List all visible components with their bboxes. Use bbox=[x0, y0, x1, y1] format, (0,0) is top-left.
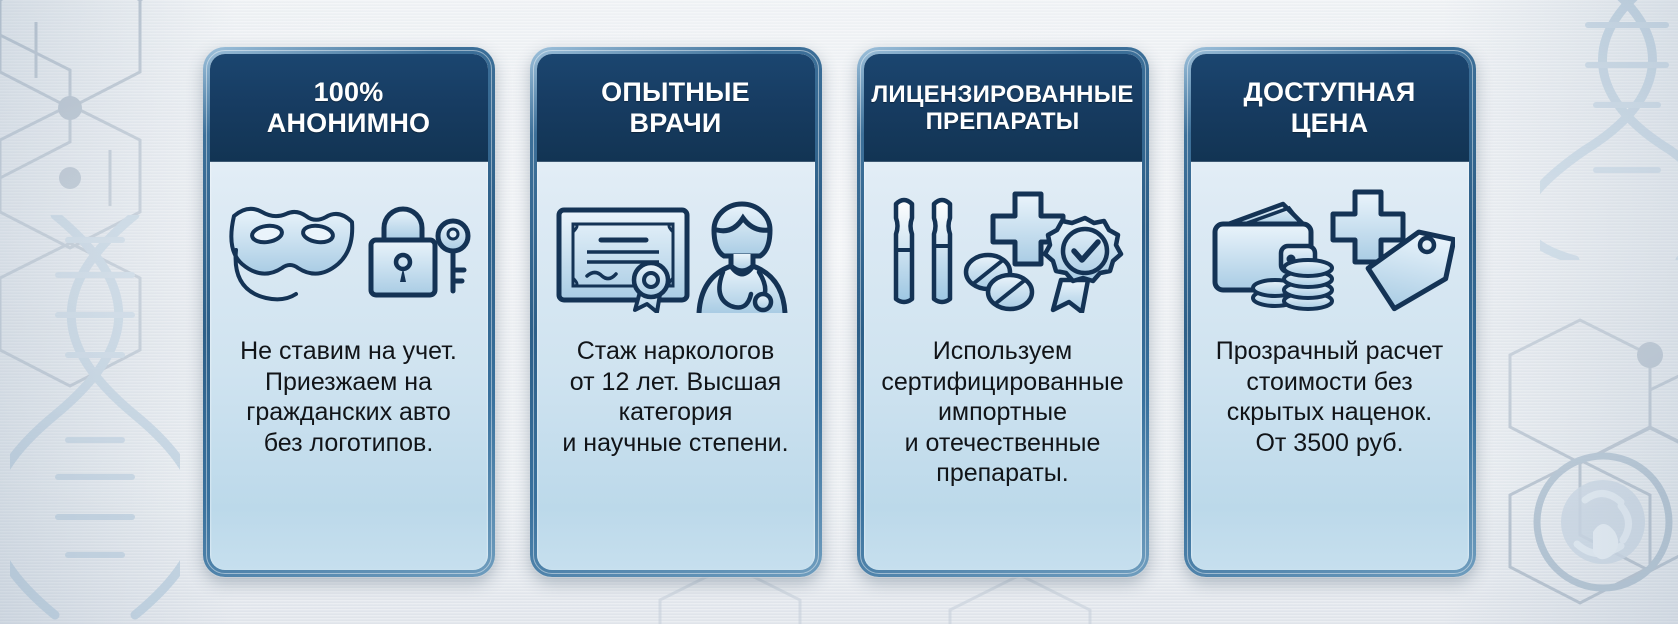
card-description: Используем сертифицированные импортные и… bbox=[881, 336, 1123, 489]
card-header-licensed-drugs: ЛИЦЕНЗИРОВАННЫЕ ПРЕПАРАТЫ bbox=[864, 54, 1142, 162]
card-header-experienced-doctors: ОПЫТНЫЕ ВРАЧИ bbox=[537, 54, 815, 162]
card-text-affordable-price: Прозрачный расчет стоимости без скрытых … bbox=[1191, 332, 1469, 570]
card-description: Не ставим на учет. Приезжаем на гражданс… bbox=[240, 336, 457, 458]
card-icons-experienced-doctors bbox=[537, 162, 815, 332]
card-text-experienced-doctors: Стаж наркологов от 12 лет. Высшая катего… bbox=[537, 332, 815, 570]
card-title: ОПЫТНЫЕ ВРАЧИ bbox=[601, 77, 750, 139]
feature-card-experienced-doctors[interactable]: ОПЫТНЫЕ ВРАЧИ bbox=[530, 47, 822, 577]
key-icon bbox=[438, 221, 468, 291]
card-text-licensed-drugs: Используем сертифицированные импортные и… bbox=[864, 332, 1142, 570]
card-header-anonymity: 100% АНОНИМНО bbox=[210, 54, 488, 162]
card-title: ДОСТУПНАЯ ЦЕНА bbox=[1244, 77, 1416, 139]
card-description: Стаж наркологов от 12 лет. Высшая катего… bbox=[562, 336, 788, 458]
card-icons-affordable-price bbox=[1191, 162, 1469, 332]
feature-cards-row: 100% АНОНИМНО bbox=[0, 0, 1678, 624]
carnival-mask-icon bbox=[231, 208, 352, 299]
certificate-icon bbox=[559, 210, 687, 312]
card-icons-anonymity bbox=[210, 162, 488, 332]
card-title: ЛИЦЕНЗИРОВАННЫЕ ПРЕПАРАТЫ bbox=[871, 81, 1133, 136]
feature-card-licensed-drugs[interactable]: ЛИЦЕНЗИРОВАННЫЕ ПРЕПАРАТЫ bbox=[857, 47, 1149, 577]
ampoule-icon bbox=[934, 200, 950, 302]
card-description: Прозрачный расчет стоимости без скрытых … bbox=[1216, 336, 1444, 458]
feature-card-anonymity[interactable]: 100% АНОНИМНО bbox=[203, 47, 495, 577]
card-icons-licensed-drugs bbox=[864, 162, 1142, 332]
feature-card-affordable-price[interactable]: ДОСТУПНАЯ ЦЕНА bbox=[1184, 47, 1476, 577]
ampoule-icon bbox=[896, 200, 912, 302]
card-text-anonymity: Не ставим на учет. Приезжаем на гражданс… bbox=[210, 332, 488, 570]
quality-badge-icon bbox=[1045, 218, 1121, 312]
padlock-icon bbox=[371, 209, 435, 295]
card-title: 100% АНОНИМНО bbox=[267, 77, 431, 139]
doctor-icon bbox=[699, 204, 785, 313]
card-header-affordable-price: ДОСТУПНАЯ ЦЕНА bbox=[1191, 54, 1469, 162]
